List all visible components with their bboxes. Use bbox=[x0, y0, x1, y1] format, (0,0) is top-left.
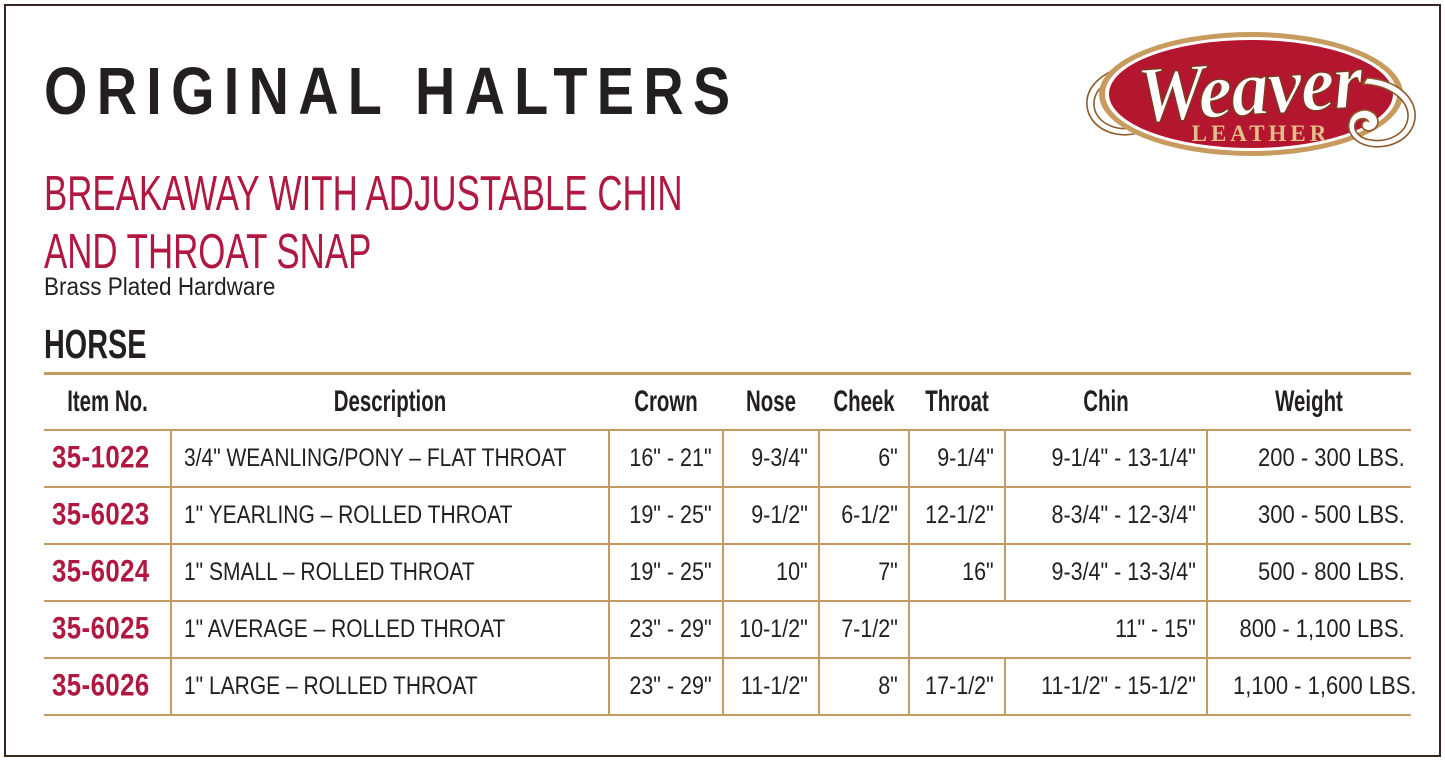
cell-crown: 23" - 29" bbox=[609, 601, 723, 658]
cell-description: 1" SMALL – ROLLED THROAT bbox=[171, 544, 609, 601]
cell-cheek: 6-1/2" bbox=[819, 487, 909, 544]
logo-artwork: Weaver LEATHER bbox=[1075, 18, 1423, 170]
cell-chin: 11-1/2" - 15-1/2" bbox=[1005, 658, 1207, 715]
cell-throat-text: 16" bbox=[962, 558, 994, 587]
cell-item-no-text: 35-6023 bbox=[52, 497, 150, 533]
cell-description-text: 1" SMALL – ROLLED THROAT bbox=[184, 558, 475, 587]
cell-item-no: 35-6023 bbox=[44, 487, 171, 544]
table-row: 35-60251" AVERAGE – ROLLED THROAT23" - 2… bbox=[44, 601, 1411, 658]
cell-cheek: 6" bbox=[819, 430, 909, 487]
cell-weight: 200 - 300 LBS. bbox=[1207, 430, 1411, 487]
cell-crown-text: 19" - 25" bbox=[630, 501, 712, 530]
col-header-chin: Chin bbox=[1017, 374, 1195, 430]
cell-description: 1" AVERAGE – ROLLED THROAT bbox=[171, 601, 609, 658]
col-header-description: Description bbox=[197, 374, 582, 430]
page-subtitle: BREAKAWAY WITH ADJUSTABLE CHIN AND THROA… bbox=[44, 164, 791, 280]
hardware-note: Brass Plated Hardware bbox=[44, 273, 275, 301]
section-label-horse: HORSE bbox=[44, 322, 146, 367]
cell-chin-text: 9-3/4" - 13-3/4" bbox=[1052, 558, 1196, 587]
cell-nose: 11-1/2" bbox=[723, 658, 819, 715]
table-row: 35-10223/4" WEANLING/PONY – FLAT THROAT1… bbox=[44, 430, 1411, 487]
cell-cheek: 8" bbox=[819, 658, 909, 715]
cell-cheek-text: 7" bbox=[878, 558, 898, 587]
subtitle-line-2: AND THROAT SNAP bbox=[44, 222, 791, 280]
spec-table-body: 35-10223/4" WEANLING/PONY – FLAT THROAT1… bbox=[44, 430, 1411, 715]
cell-chin: 9-1/4" - 13-1/4" bbox=[1005, 430, 1207, 487]
cell-chin-text: 8-3/4" - 12-3/4" bbox=[1052, 501, 1196, 530]
cell-item-no: 35-1022 bbox=[44, 430, 171, 487]
col-header-throat: Throat bbox=[915, 374, 999, 430]
cell-crown-text: 16" - 21" bbox=[630, 444, 712, 473]
table-row: 35-60231" YEARLING – ROLLED THROAT19" - … bbox=[44, 487, 1411, 544]
cell-weight: 1,100 - 1,600 LBS. bbox=[1207, 658, 1411, 715]
cell-chin: 9-3/4" - 13-3/4" bbox=[1005, 544, 1207, 601]
col-header-item-no: Item No. bbox=[52, 374, 164, 430]
cell-weight: 800 - 1,100 LBS. bbox=[1207, 601, 1411, 658]
cell-crown-text: 19" - 25" bbox=[630, 558, 712, 587]
cell-throat: 9-1/4" bbox=[909, 430, 1005, 487]
cell-weight-text: 300 - 500 LBS. bbox=[1258, 501, 1405, 530]
col-header-crown: Crown bbox=[616, 374, 716, 430]
cell-cheek: 7" bbox=[819, 544, 909, 601]
cell-cheek-text: 7-1/2" bbox=[841, 615, 898, 644]
cell-description-text: 1" YEARLING – ROLLED THROAT bbox=[184, 501, 512, 530]
cell-crown: 19" - 25" bbox=[609, 544, 723, 601]
col-header-cheek: Cheek bbox=[824, 374, 903, 430]
cell-nose: 9-1/2" bbox=[723, 487, 819, 544]
cell-crown-text: 23" - 29" bbox=[630, 672, 712, 701]
cell-weight-text: 1,100 - 1,600 LBS. bbox=[1233, 672, 1416, 701]
subtitle-line-1: BREAKAWAY WITH ADJUSTABLE CHIN bbox=[44, 164, 791, 222]
col-header-nose: Nose bbox=[729, 374, 813, 430]
cell-crown: 16" - 21" bbox=[609, 430, 723, 487]
cell-cheek-text: 6" bbox=[878, 444, 898, 473]
cell-nose-text: 11-1/2" bbox=[741, 672, 808, 701]
cell-nose-text: 10" bbox=[776, 558, 808, 587]
cell-cheek: 7-1/2" bbox=[819, 601, 909, 658]
page-title: ORIGINAL HALTERS bbox=[44, 58, 739, 125]
cell-weight-text: 800 - 1,100 LBS. bbox=[1240, 615, 1405, 644]
cell-item-no-text: 35-6024 bbox=[52, 554, 150, 590]
spec-table-head: Item No. Description Crown Nose Cheek Th… bbox=[44, 374, 1411, 430]
table-header-row: Item No. Description Crown Nose Cheek Th… bbox=[44, 374, 1411, 430]
cell-weight: 500 - 800 LBS. bbox=[1207, 544, 1411, 601]
cell-throat: 12-1/2" bbox=[909, 487, 1005, 544]
table-row: 35-60241" SMALL – ROLLED THROAT19" - 25"… bbox=[44, 544, 1411, 601]
cell-item-no: 35-6025 bbox=[44, 601, 171, 658]
spec-table-container: Item No. Description Crown Nose Cheek Th… bbox=[44, 372, 1411, 716]
cell-item-no: 35-6024 bbox=[44, 544, 171, 601]
cell-cheek-text: 6-1/2" bbox=[841, 501, 898, 530]
cell-chin-text: 9-1/4" - 13-1/4" bbox=[1052, 444, 1196, 473]
cell-description: 1" LARGE – ROLLED THROAT bbox=[171, 658, 609, 715]
halter-spec-sheet: ORIGINAL HALTERS BREAKAWAY WITH ADJUSTAB… bbox=[0, 0, 1445, 761]
cell-nose-text: 9-3/4" bbox=[751, 444, 808, 473]
cell-throat-chin-merged-text: 11" - 15" bbox=[1115, 615, 1196, 644]
cell-description-text: 3/4" WEANLING/PONY – FLAT THROAT bbox=[184, 444, 566, 473]
weaver-leather-logo: Weaver LEATHER bbox=[1075, 18, 1423, 170]
spec-table: Item No. Description Crown Nose Cheek Th… bbox=[44, 372, 1411, 716]
cell-description: 3/4" WEANLING/PONY – FLAT THROAT bbox=[171, 430, 609, 487]
cell-throat-text: 9-1/4" bbox=[937, 444, 994, 473]
cell-throat-text: 17-1/2" bbox=[925, 672, 994, 701]
logo-wordmark-leather: LEATHER bbox=[1192, 121, 1331, 146]
cell-nose: 10" bbox=[723, 544, 819, 601]
cell-description-text: 1" LARGE – ROLLED THROAT bbox=[184, 672, 478, 701]
cell-description-text: 1" AVERAGE – ROLLED THROAT bbox=[184, 615, 505, 644]
cell-throat: 17-1/2" bbox=[909, 658, 1005, 715]
cell-item-no-text: 35-6025 bbox=[52, 611, 150, 647]
cell-crown: 19" - 25" bbox=[609, 487, 723, 544]
cell-cheek-text: 8" bbox=[878, 672, 898, 701]
cell-item-no-text: 35-1022 bbox=[52, 440, 150, 476]
cell-item-no-text: 35-6026 bbox=[52, 668, 150, 704]
cell-chin-text: 11-1/2" - 15-1/2" bbox=[1041, 672, 1196, 701]
cell-weight: 300 - 500 LBS. bbox=[1207, 487, 1411, 544]
cell-throat-chin-merged: 11" - 15" bbox=[909, 601, 1207, 658]
cell-item-no: 35-6026 bbox=[44, 658, 171, 715]
cell-nose-text: 9-1/2" bbox=[751, 501, 808, 530]
cell-crown-text: 23" - 29" bbox=[630, 615, 712, 644]
table-row: 35-60261" LARGE – ROLLED THROAT23" - 29"… bbox=[44, 658, 1411, 715]
cell-description: 1" YEARLING – ROLLED THROAT bbox=[171, 487, 609, 544]
cell-chin: 8-3/4" - 12-3/4" bbox=[1005, 487, 1207, 544]
cell-nose: 9-3/4" bbox=[723, 430, 819, 487]
cell-crown: 23" - 29" bbox=[609, 658, 723, 715]
cell-nose-text: 10-1/2" bbox=[739, 615, 808, 644]
cell-throat: 16" bbox=[909, 544, 1005, 601]
col-header-weight: Weight bbox=[1219, 374, 1399, 430]
cell-weight-text: 500 - 800 LBS. bbox=[1258, 558, 1405, 587]
cell-weight-text: 200 - 300 LBS. bbox=[1258, 444, 1405, 473]
cell-throat-text: 12-1/2" bbox=[925, 501, 994, 530]
cell-nose: 10-1/2" bbox=[723, 601, 819, 658]
